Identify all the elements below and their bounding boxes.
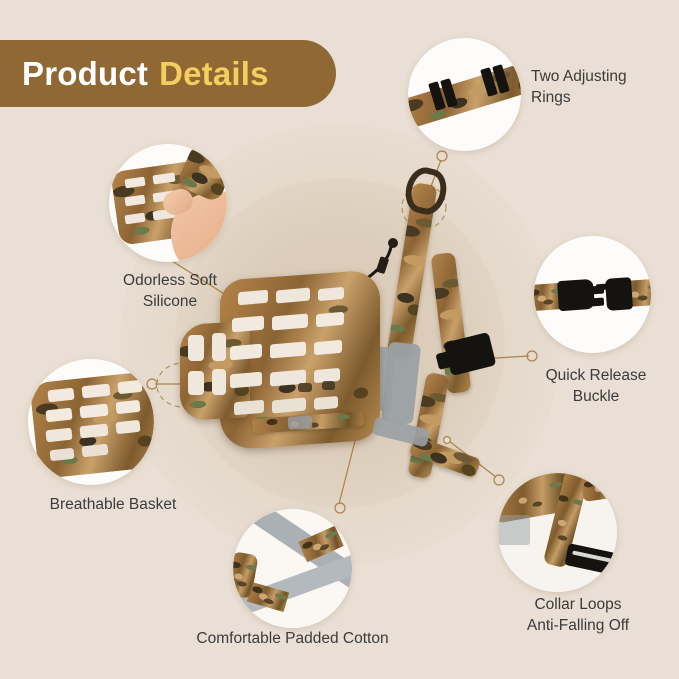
callout-image-quick-release-buckle [534, 236, 651, 353]
infographic-canvas: Two Adjusting Rings Odorless Soft Silico… [0, 0, 679, 679]
callout-breathable-basket[interactable] [28, 359, 154, 485]
callout-image-odorless-soft-silicone [109, 144, 227, 262]
banner-title-product: Product [22, 55, 148, 93]
callout-image-collar-loops [498, 473, 617, 592]
callout-quick-release-buckle[interactable] [534, 236, 651, 353]
header-banner: Product Details [0, 40, 336, 107]
callout-two-adjusting-rings[interactable] [408, 38, 521, 151]
banner-title-details: Details [159, 55, 269, 93]
product-image [185, 165, 515, 495]
callout-image-comfortable-padded-cotton [233, 509, 352, 628]
callout-comfortable-padded-cotton[interactable] [233, 509, 352, 628]
callout-label-breathable-basket: Breathable Basket [7, 494, 219, 515]
callout-odorless-soft-silicone[interactable] [109, 144, 227, 262]
callout-label-comfortable-padded-cotton: Comfortable Padded Cotton [166, 628, 419, 649]
callout-label-odorless-soft-silicone: Odorless Soft Silicone [85, 270, 255, 312]
callout-label-collar-loops: Collar Loops Anti-Falling Off [490, 594, 666, 636]
callout-image-breathable-basket [28, 359, 154, 485]
callout-label-quick-release-buckle: Quick Release Buckle [513, 365, 679, 407]
callout-collar-loops[interactable] [498, 473, 617, 592]
callout-image-two-adjusting-rings [408, 38, 521, 151]
callout-label-two-adjusting-rings: Two Adjusting Rings [531, 66, 679, 108]
